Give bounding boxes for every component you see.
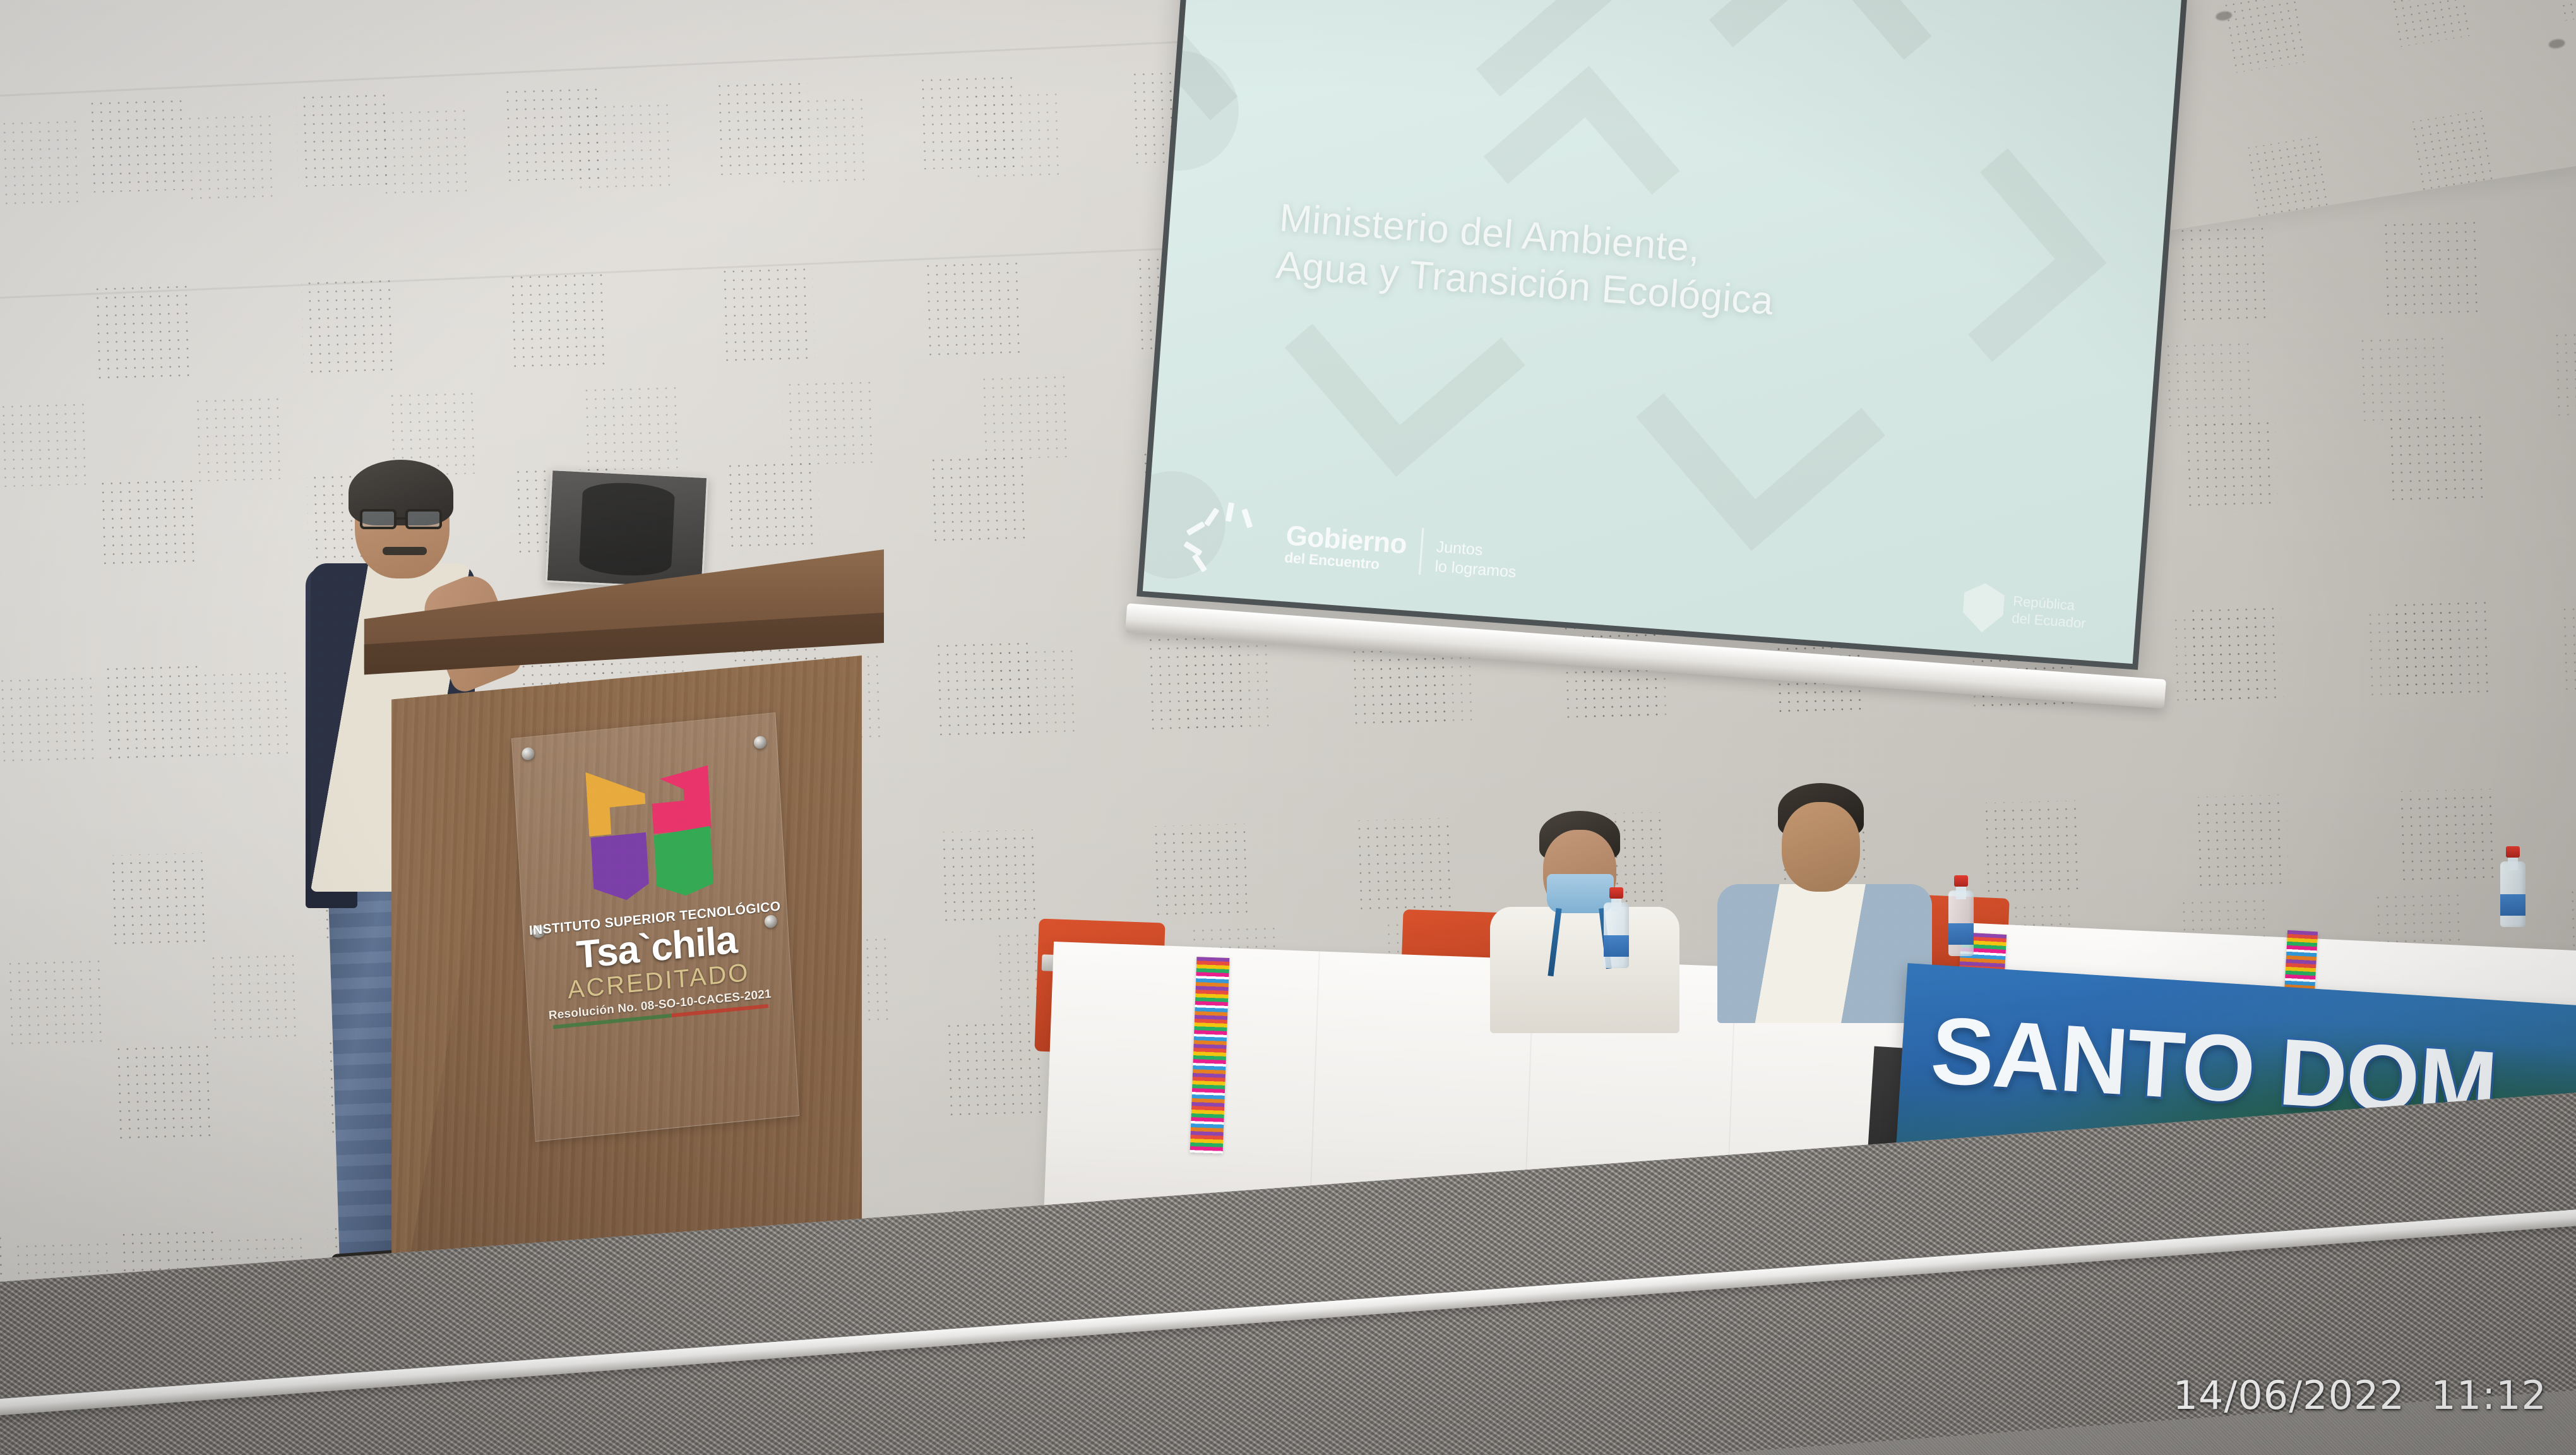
projected-slide: Ministerio del Ambiente, Agua y Transici… bbox=[1143, 0, 2182, 664]
panelist-blazer bbox=[1717, 789, 1932, 1017]
bottle-cap-1 bbox=[1609, 887, 1623, 899]
republica-ecuador-logo: República del Ecuador bbox=[1962, 582, 2089, 640]
bottle-cap-3 bbox=[2506, 846, 2520, 858]
logo-quadrant-green bbox=[653, 826, 714, 899]
gobierno-logo: Gobierno del Encuentro Juntos lo logramo… bbox=[1187, 497, 1520, 582]
logo-quadrant-yellow bbox=[585, 767, 647, 837]
camera-timestamp: 14/06/2022 11:12 bbox=[2173, 1372, 2547, 1418]
projection-screen: Ministerio del Ambiente, Agua y Transici… bbox=[1136, 0, 2188, 670]
water-bottle-3 bbox=[2500, 846, 2525, 927]
panelist-blazer-head bbox=[1782, 802, 1860, 892]
bottle-label-3 bbox=[2500, 894, 2525, 916]
bottle-label-1 bbox=[1604, 935, 1629, 957]
logo-quadrant-red bbox=[650, 765, 712, 834]
gobierno-tagline: Juntos lo logramos bbox=[1434, 537, 1518, 582]
water-bottle-2 bbox=[1948, 875, 1974, 956]
republica-wordmark: República del Ecuador bbox=[2011, 593, 2087, 632]
water-bottle-1 bbox=[1604, 887, 1629, 968]
tsachila-logo-icon bbox=[583, 757, 717, 907]
conference-photo: Ministerio del Ambiente, Agua y Transici… bbox=[0, 0, 2576, 1455]
gobierno-wordmark: Gobierno del Encuentro bbox=[1284, 522, 1408, 573]
logo-quadrant-purple bbox=[590, 832, 650, 903]
panelist-masked-torso bbox=[1490, 907, 1679, 1033]
gobierno-rays-icon bbox=[1187, 497, 1275, 563]
plaque-content: INSTITUTO SUPERIOR TECNOLÓGICO Tsa`chila… bbox=[512, 713, 799, 1141]
chevron-watermark-3 bbox=[1709, 0, 1932, 139]
podium-plaque: INSTITUTO SUPERIOR TECNOLÓGICO Tsa`chila… bbox=[511, 712, 799, 1142]
gobierno-divider bbox=[1419, 528, 1424, 575]
speaker-glasses bbox=[357, 509, 450, 530]
bottle-cap-2 bbox=[1954, 875, 1968, 887]
table-runner-left bbox=[1190, 957, 1230, 1154]
screen-frame: Ministerio del Ambiente, Agua y Transici… bbox=[1136, 0, 2188, 670]
panelist-masked bbox=[1490, 813, 1679, 1015]
chevron-watermark-5 bbox=[1637, 302, 1886, 551]
panelist-blazer-jacket bbox=[1717, 884, 1932, 1023]
bottle-label-2 bbox=[1948, 923, 1974, 945]
coat-of-arms-icon bbox=[1962, 582, 2006, 633]
